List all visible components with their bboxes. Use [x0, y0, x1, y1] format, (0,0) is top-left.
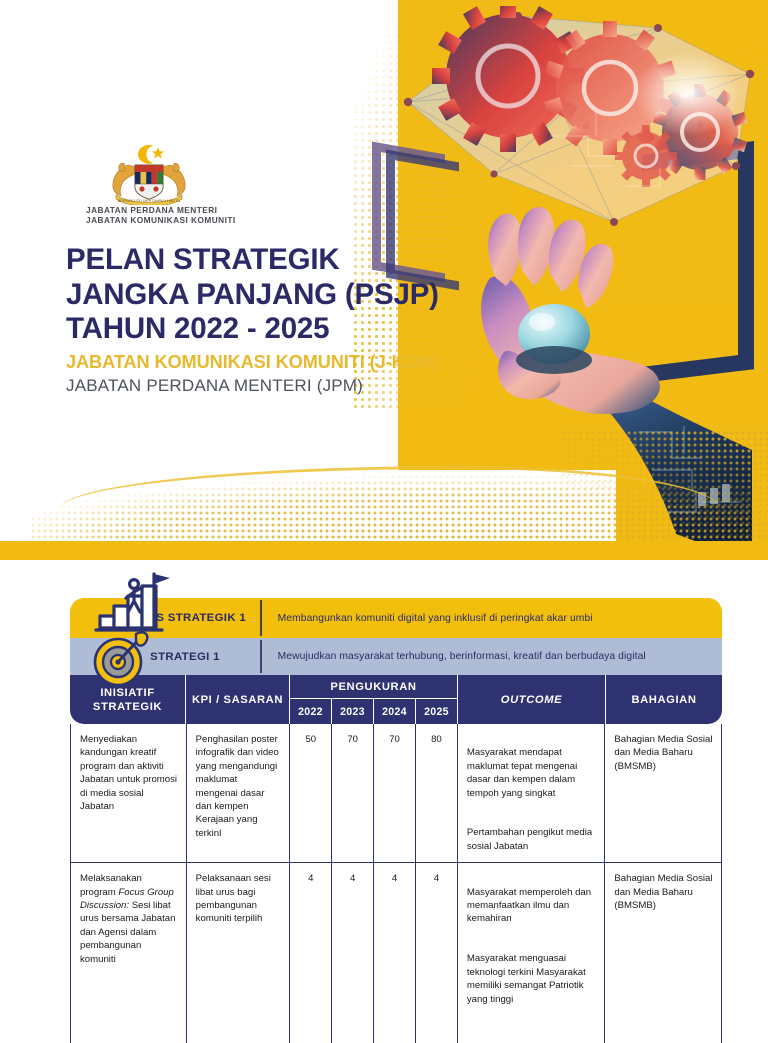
- teras-strategik-text: Membangunkan komuniti digital yang inklu…: [262, 613, 722, 624]
- page-subtitle: JABATAN KOMUNIKASI KOMUNITI (J-KOM): [66, 352, 566, 373]
- column-header-year-2024: 2024: [374, 699, 416, 724]
- cell-value-2022: 50: [290, 724, 332, 862]
- cell-value-2025: 4: [416, 863, 458, 1043]
- spacer: [467, 800, 597, 813]
- strategi-band: STRATEGI 1 Mewujudkan masyarakat terhubu…: [70, 638, 722, 675]
- pengukuran-year-headers: 2022 2023 2024 2025: [290, 699, 457, 724]
- outcome-paragraph-1: Masyarakat memperoleh dan memanfaatkan i…: [467, 887, 591, 925]
- strategic-plan-table: TERAS STRATEGIK 1 Membangunkan komuniti …: [70, 598, 722, 1043]
- page-title: PELAN STRATEGIK JANGKA PANJANG (PSJP) TA…: [66, 243, 536, 347]
- cell-value-2024: 70: [374, 724, 416, 862]
- pengukuran-label: PENGUKURAN: [290, 675, 457, 699]
- teras-strategik-band: TERAS STRATEGIK 1 Membangunkan komuniti …: [70, 598, 722, 638]
- cell-inisiatif: Melaksanakan program Focus Group Discuss…: [71, 863, 187, 1043]
- band-divider: [260, 600, 262, 636]
- table-header-row: INISIATIF STRATEGIK KPI / SASARAN PENGUK…: [70, 675, 722, 724]
- column-header-pengukuran: PENGUKURAN 2022 2023 2024 2025: [290, 675, 458, 724]
- hero-bottom-strip: [0, 541, 768, 560]
- column-header-bahagian: BAHAGIAN: [606, 675, 722, 724]
- hero-banner: BERSEKUTU BERTAMBAH MUTU JABATAN PERDANA…: [0, 0, 768, 560]
- column-header-year-2022: 2022: [290, 699, 332, 724]
- column-header-outcome: OUTCOME: [458, 675, 606, 724]
- cell-value-2024: 4: [374, 863, 416, 1043]
- cell-bahagian: Bahagian Media Sosial dan Media Baharu (…: [605, 863, 721, 1043]
- band-divider: [260, 640, 262, 673]
- strategi-text: Mewujudkan masyarakat terhubung, berinfo…: [262, 651, 722, 662]
- cell-inisiatif: Menyediakan kandungan kreatif program da…: [71, 724, 187, 862]
- column-header-year-2023: 2023: [332, 699, 374, 724]
- cell-kpi: Penghasilan poster infografik dan video …: [187, 724, 291, 862]
- outcome-paragraph-2: Pertambahan pengikut media sosial Jabata…: [467, 827, 592, 851]
- outcome-paragraph-1: Masyarakat mendapat maklumat tepat menge…: [467, 747, 577, 798]
- table-row: Menyediakan kandungan kreatif program da…: [71, 724, 721, 863]
- page-subtitle-secondary: JABATAN PERDANA MENTERI (JPM): [66, 376, 566, 396]
- svg-text:BERSEKUTU BERTAMBAH MUTU: BERSEKUTU BERTAMBAH MUTU: [118, 198, 181, 203]
- column-header-kpi-sasaran: KPI / SASARAN: [186, 675, 290, 724]
- target-dart-icon: [84, 624, 158, 690]
- cell-kpi: Pelaksanaan sesi libat urus bagi pembang…: [187, 863, 291, 1043]
- table-body: Menyediakan kandungan kreatif program da…: [70, 724, 722, 1043]
- table-row: Melaksanakan program Focus Group Discuss…: [71, 863, 721, 1043]
- cell-bahagian: Bahagian Media Sosial dan Media Baharu (…: [605, 724, 721, 862]
- crest-caption: JABATAN PERDANA MENTERI JABATAN KOMUNIKA…: [62, 205, 416, 226]
- outcome-paragraph-2: Masyarakat menguasai teknologi terkini M…: [467, 953, 586, 1004]
- cell-outcome: Masyarakat memperoleh dan memanfaatkan i…: [458, 863, 606, 1043]
- cell-value-2022: 4: [290, 863, 332, 1043]
- cell-outcome: Masyarakat mendapat maklumat tepat menge…: [458, 724, 606, 862]
- malaysia-coat-of-arms-icon: BERSEKUTU BERTAMBAH MUTU: [86, 143, 212, 205]
- cell-value-2023: 70: [332, 724, 374, 862]
- spacer: [467, 926, 597, 939]
- cell-value-2023: 4: [332, 863, 374, 1043]
- column-header-year-2025: 2025: [416, 699, 457, 724]
- cell-value-2025: 80: [416, 724, 458, 862]
